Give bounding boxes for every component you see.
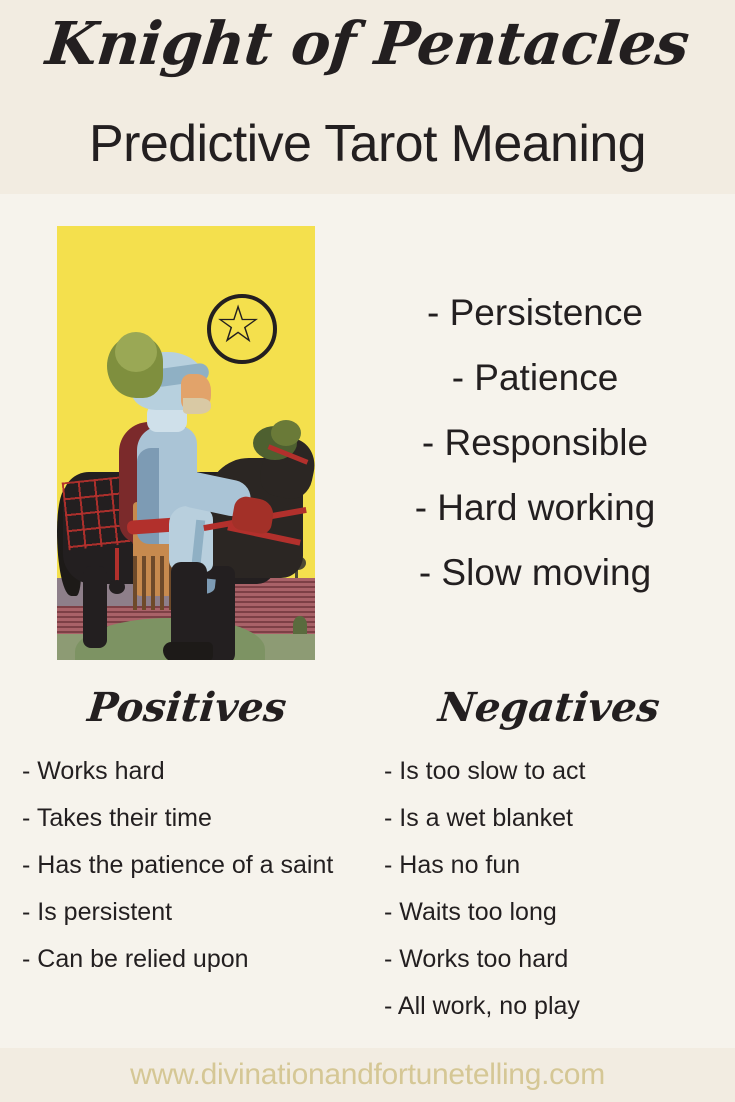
list-item: - Has the patience of a saint [12, 842, 362, 889]
negatives-heading: Negatives [371, 680, 727, 736]
page-subtitle: Predictive Tarot Meaning [0, 118, 735, 170]
list-item: - Is persistent [12, 889, 362, 936]
keyword-list: - Persistence - Patience - Responsible -… [345, 280, 725, 605]
keyword-item: - Responsible [345, 410, 725, 475]
keyword-item: - Slow moving [345, 540, 725, 605]
footer-band: www.divinationandfortunetelling.com [0, 1048, 735, 1102]
negatives-column: Negatives - Is too slow to act - Is a we… [374, 680, 724, 1030]
positives-column: Positives - Works hard - Takes their tim… [12, 680, 362, 983]
card-knight-plume-highlight [115, 332, 157, 372]
positives-negatives-section: Positives - Works hard - Takes their tim… [0, 680, 735, 1040]
tarot-card-image: ☆ [57, 226, 315, 660]
keyword-item: - Hard working [345, 475, 725, 540]
list-item: - Is too slow to act [374, 748, 724, 795]
page-title-script: Knight of Pentacles [0, 14, 735, 73]
negatives-list: - Is too slow to act - Is a wet blanket … [374, 748, 724, 1030]
pentacle-star-icon: ☆ [209, 296, 267, 354]
list-item: - Takes their time [12, 795, 362, 842]
list-item: - All work, no play [374, 983, 724, 1030]
positives-heading: Positives [9, 680, 365, 736]
list-item: - Works too hard [374, 936, 724, 983]
card-horse-hind-leg [83, 566, 107, 648]
card-tassel-ball [109, 580, 125, 594]
list-item: - Works hard [12, 748, 362, 795]
keyword-item: - Persistence [345, 280, 725, 345]
header-band: Knight of Pentacles Predictive Tarot Mea… [0, 0, 735, 194]
list-item: - Waits too long [374, 889, 724, 936]
keyword-item: - Patience [345, 345, 725, 410]
card-tassel-cord [115, 548, 119, 584]
positives-list: - Works hard - Takes their time - Has th… [12, 748, 362, 983]
card-horse-mane-highlight [271, 420, 301, 446]
card-knight-beard [183, 398, 211, 414]
card-shrub-icon [293, 616, 307, 634]
list-item: - Can be relied upon [12, 936, 362, 983]
list-item: - Has no fun [374, 842, 724, 889]
infographic-page: Knight of Pentacles Predictive Tarot Mea… [0, 0, 735, 1102]
card-knight-foot [163, 642, 213, 660]
website-url[interactable]: www.divinationandfortunetelling.com [0, 1048, 735, 1102]
tarot-card-artwork: ☆ [57, 226, 315, 660]
body-area: ☆ - Persistence - Patience - Responsible… [0, 194, 735, 1048]
list-item: - Is a wet blanket [374, 795, 724, 842]
